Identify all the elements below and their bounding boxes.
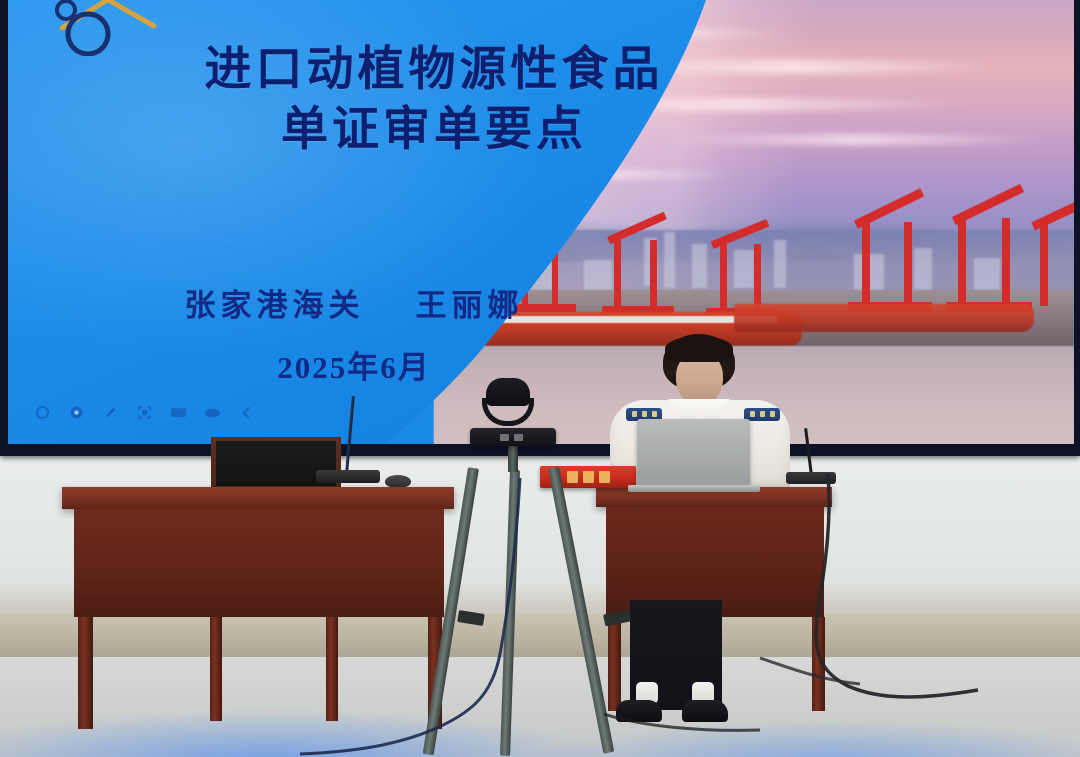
projection-screen[interactable]: 进口动植物源性食品 单证审单要点 张家港海关 王丽娜 2025年6月 — [8, 0, 1074, 444]
ptz-camera-head[interactable] — [486, 378, 530, 406]
target-icon[interactable] — [136, 404, 153, 421]
slide-date-line: 2025年6月 — [104, 342, 604, 387]
ellipse-icon[interactable] — [204, 404, 221, 421]
presenter-hair-fringe — [665, 336, 733, 362]
slide-title-line1: 进口动植物源性食品 — [205, 44, 664, 96]
pen-icon[interactable] — [102, 404, 119, 421]
circle-icon[interactable] — [34, 404, 51, 421]
rectangle-icon[interactable] — [170, 404, 187, 421]
photo-cargo-ship — [734, 304, 1034, 332]
slide-title-line2: 单证审单要点 — [104, 100, 764, 160]
slide-presenter-line: 张家港海关 王丽娜 — [104, 280, 604, 325]
presenter-epaulette — [744, 408, 780, 421]
lecture-room-scene: 进口动植物源性食品 单证审单要点 张家港海关 王丽娜 2025年6月 — [0, 0, 1080, 757]
floor-cable — [0, 440, 1080, 757]
record-icon[interactable] — [68, 404, 85, 421]
slide-title: 进口动植物源性食品 单证审单要点 — [104, 40, 764, 160]
presentation-toolbar[interactable] — [34, 404, 255, 421]
chevron-left-icon[interactable] — [238, 404, 255, 421]
